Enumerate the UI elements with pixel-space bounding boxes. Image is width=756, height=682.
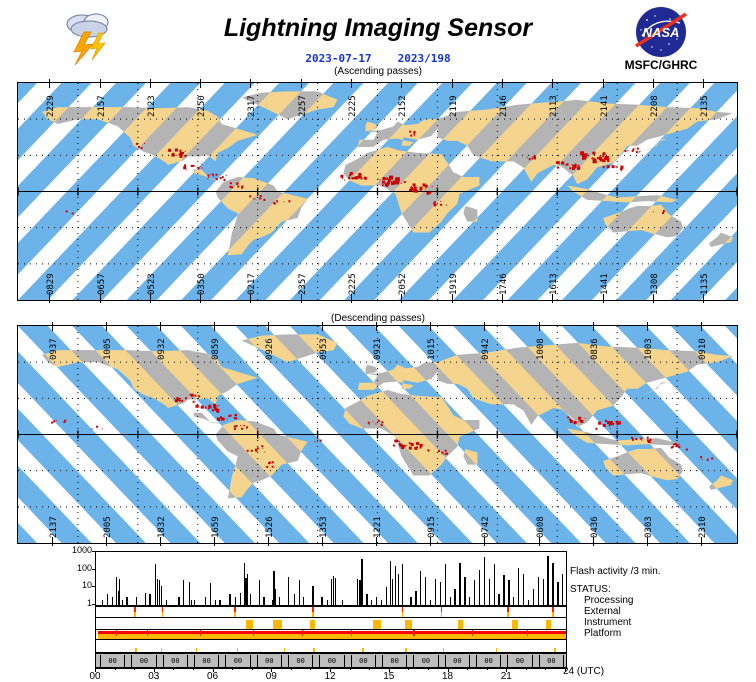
ascending-pass-caption: (Ascending passes) <box>178 66 578 77</box>
flash-activity-bar <box>294 594 295 605</box>
map-orbit-time-label: 2135 <box>700 95 710 117</box>
map-tick-mark <box>301 294 302 303</box>
flash-activity-bar <box>122 600 123 605</box>
x-axis-minor-tick <box>487 667 488 670</box>
map-orbit-time-label: 2225 <box>348 95 358 117</box>
flash-activity-bar <box>410 597 411 605</box>
status-tick-platform <box>161 648 162 652</box>
flash-activity-bar <box>533 589 534 605</box>
map-ascending-passes[interactable] <box>17 82 738 301</box>
map-orbit-time-label: 2157 <box>97 95 107 117</box>
map-tick-mark <box>200 294 201 303</box>
page-header: Lightning Imaging Sensor 2023-07-172023/… <box>0 0 756 78</box>
x-axis-minor-tick <box>369 667 370 670</box>
map-orbit-time-label: 0926 <box>265 338 275 360</box>
utc-axis-label: 24 (UTC) <box>563 666 604 677</box>
map-tick-mark <box>653 294 654 303</box>
orbit-box[interactable]: 00 <box>194 655 219 667</box>
map-tick-mark <box>322 322 323 331</box>
flash-activity-bar <box>136 597 137 605</box>
map-tick-mark <box>250 79 251 88</box>
flash-activity-bar <box>543 579 544 605</box>
flash-activity-bar <box>445 564 446 605</box>
flash-activity-bar <box>513 597 514 605</box>
map-orbit-time-label: 0932 <box>157 338 167 360</box>
legend-status-external: External <box>570 606 756 617</box>
map-tick-mark <box>452 294 453 303</box>
orbit-box[interactable]: 00 <box>163 655 188 667</box>
x-axis-minor-tick <box>545 667 546 670</box>
orbit-box[interactable]: 00 <box>100 655 125 667</box>
map-tick-mark <box>351 294 352 303</box>
flash-activity-bar <box>335 578 336 605</box>
flash-activity-bar <box>303 597 304 605</box>
map-geometry <box>18 83 737 300</box>
status-tick-instrument <box>302 630 303 636</box>
flash-activity-bar <box>498 594 499 605</box>
status-tick-platform <box>362 648 363 652</box>
map-orbit-time-label: 0303 <box>644 516 654 538</box>
svg-text:NASA: NASA <box>643 25 680 40</box>
status-tick-instrument <box>200 630 201 636</box>
flash-activity-bar <box>342 600 343 605</box>
flash-activity-bar <box>459 563 460 605</box>
x-axis-minor-tick <box>252 667 253 670</box>
map-tick-mark <box>301 79 302 88</box>
map-tick-mark <box>502 294 503 303</box>
observation-date: 2023-07-17 <box>305 52 371 65</box>
map-orbit-time-label: 0910 <box>698 338 708 360</box>
flash-activity-bar <box>247 574 248 605</box>
map-orbit-time-label: 0350 <box>197 273 207 295</box>
date-bar: 2023-07-172023/198 <box>178 52 578 65</box>
map-tick-mark <box>484 537 485 546</box>
map-tick-mark <box>430 322 431 331</box>
x-axis-tick-label: 21 <box>501 671 512 682</box>
flash-activity-bar <box>562 574 563 605</box>
map-ascending-canvas <box>18 83 737 300</box>
map-tick-mark <box>268 537 269 546</box>
x-axis-tick-label: 09 <box>266 671 277 682</box>
map-tick-mark <box>701 322 702 331</box>
thunderstorm-cloud-icon <box>58 8 120 66</box>
flash-activity-bar <box>259 580 260 605</box>
map-orbit-time-label: 1221 <box>373 516 383 538</box>
map-orbit-time-label: 0217 <box>247 273 257 295</box>
status-tick-instrument <box>351 630 352 636</box>
x-axis-minor-tick <box>193 667 194 670</box>
status-tick-instrument <box>147 630 148 636</box>
map-tick-mark <box>701 537 702 546</box>
flash-activity-plot[interactable] <box>95 551 567 606</box>
map-tick-mark <box>452 79 453 88</box>
x-axis-tick-label: 03 <box>148 671 159 682</box>
x-axis-tick-label: 12 <box>324 671 335 682</box>
map-tick-mark <box>703 294 704 303</box>
status-tick-platform <box>196 648 197 652</box>
map-orbit-time-label: 0829 <box>46 273 56 295</box>
flash-activity-bar <box>126 597 127 605</box>
map-orbit-time-label: 1441 <box>600 273 610 295</box>
flash-activity-bar <box>191 600 192 605</box>
map-tick-mark <box>214 322 215 331</box>
flash-activity-bar <box>557 582 558 605</box>
map-orbit-time-label: 0742 <box>481 516 491 538</box>
flash-activity-bar <box>312 586 313 605</box>
flash-activity-bar <box>145 593 146 605</box>
flash-activity-bar <box>435 579 436 605</box>
map-orbit-time-label: 1308 <box>650 273 660 295</box>
x-axis-minor-tick <box>134 667 135 670</box>
flash-activity-bar <box>523 574 524 605</box>
map-orbit-time-label: 2257 <box>298 95 308 117</box>
map-tick-mark <box>593 322 594 331</box>
map-tick-mark <box>150 294 151 303</box>
legend-activity-label: Flash activity /3 min. <box>570 566 756 577</box>
legend-status-processing: Processing <box>570 595 756 606</box>
flash-activity-bar <box>547 556 548 605</box>
orbit-box[interactable]: 00 <box>225 655 250 667</box>
flash-activity-bar <box>479 570 480 605</box>
flash-activity-bar <box>440 582 441 605</box>
map-tick-mark <box>376 537 377 546</box>
flash-activity-bar <box>219 600 220 605</box>
x-axis-minor-tick <box>173 667 174 670</box>
flash-activity-bar <box>386 587 387 605</box>
map-tick-mark <box>100 79 101 88</box>
flash-activity-bar <box>402 564 403 605</box>
map-tick-mark <box>593 537 594 546</box>
day-of-year: 2023/198 <box>398 52 451 65</box>
flash-activity-bar <box>376 597 377 605</box>
flash-activity-bar <box>183 580 184 605</box>
map-tick-mark <box>653 79 654 88</box>
map-orbit-time-label: 2141 <box>600 95 610 117</box>
map-orbit-time-label: 1008 <box>536 338 546 360</box>
chart-y-tick-label: 1 <box>58 598 92 608</box>
map-tick-mark <box>376 322 377 331</box>
map-orbit-time-label: 1353 <box>319 516 329 538</box>
orbit-box[interactable]: 00 <box>131 655 156 667</box>
map-tick-mark <box>150 79 151 88</box>
flash-activity-bar <box>474 580 475 605</box>
map-tick-mark <box>100 294 101 303</box>
map-orbit-time-label: 2229 <box>46 95 56 117</box>
x-axis-minor-tick <box>310 667 311 670</box>
flash-activity-bar <box>279 597 280 605</box>
status-tick-platform <box>313 648 314 652</box>
flash-activity-bar <box>210 583 211 605</box>
flash-activity-bar <box>361 559 362 605</box>
map-orbit-time-label: 2146 <box>499 95 509 117</box>
x-axis-minor-tick <box>467 667 468 670</box>
x-axis-tick-label: 15 <box>383 671 394 682</box>
map-orbit-time-label: 2113 <box>549 95 559 117</box>
map-tick-mark <box>603 294 604 303</box>
map-tick-mark <box>250 294 251 303</box>
flash-activity-bar <box>263 597 264 605</box>
x-axis-minor-tick <box>232 667 233 670</box>
flash-activity-bar <box>321 597 322 605</box>
flash-activity-bar <box>119 579 120 605</box>
flash-activity-bar <box>235 597 236 605</box>
map-tick-mark <box>647 537 648 546</box>
flash-activity-bar <box>518 568 519 605</box>
map-tick-mark <box>401 79 402 88</box>
chart-x-axis: 000306091215182124 <box>95 667 565 680</box>
flash-activity-bar <box>240 593 241 605</box>
orbit-box[interactable]: 00 <box>507 655 532 667</box>
map-tick-mark <box>552 294 553 303</box>
map-orbit-time-label: 2317 <box>247 95 257 117</box>
status-tick-platform <box>405 648 406 652</box>
map-tick-mark <box>539 322 540 331</box>
map-orbit-time-label: 2225 <box>348 273 358 295</box>
orbit-box[interactable]: 00 <box>476 655 501 667</box>
orbit-box[interactable]: 00 <box>413 655 438 667</box>
chart-y-tick-label: 1000 <box>58 545 92 555</box>
orbit-box[interactable]: 00 <box>445 655 470 667</box>
flash-activity-bar <box>288 577 289 605</box>
flash-activity-bar <box>178 597 179 605</box>
map-orbit-time-label: 1135 <box>700 273 710 295</box>
x-axis-minor-tick <box>428 667 429 670</box>
flash-activity-bar <box>430 600 431 605</box>
flash-activity-bar <box>415 591 416 605</box>
flash-activity-bar <box>102 600 103 605</box>
agency-label: MSFC/GHRC <box>600 58 722 72</box>
map-orbit-time-label: 0953 <box>319 338 329 360</box>
flash-activity-bar <box>489 579 490 605</box>
flash-activity-bar <box>299 580 300 605</box>
map-tick-mark <box>351 79 352 88</box>
orbit-box[interactable]: 00 <box>382 655 407 667</box>
map-orbit-time-label: 1832 <box>157 516 167 538</box>
orbit-box[interactable]: 00 <box>319 655 344 667</box>
flash-activity-bar <box>250 594 251 605</box>
map-tick-mark <box>552 79 553 88</box>
map-orbit-time-label: 2310 <box>698 516 708 538</box>
descending-pass-caption: (Descending passes) <box>178 313 578 324</box>
flash-activity-bar <box>205 597 206 605</box>
flash-activity-bar <box>425 577 426 605</box>
flash-activity-bar <box>503 575 504 605</box>
map-tick-mark <box>322 537 323 546</box>
flash-activity-bar <box>450 597 451 605</box>
status-tick-platform <box>443 648 444 652</box>
flash-activity-bar <box>392 579 393 605</box>
map-tick-mark <box>49 79 50 88</box>
map-tick-mark <box>703 79 704 88</box>
map-tick-mark <box>268 322 269 331</box>
map-tick-mark <box>106 537 107 546</box>
map-orbit-time-label: 0436 <box>590 516 600 538</box>
map-tick-mark <box>539 537 540 546</box>
flash-activity-bar <box>107 594 108 605</box>
map-orbit-time-label: 1003 <box>644 338 654 360</box>
flash-activity-bar <box>381 600 382 605</box>
chart-y-tick-label: 10 <box>58 580 92 590</box>
map-tick-mark <box>603 79 604 88</box>
page-title: Lightning Imaging Sensor <box>178 14 578 43</box>
flash-activity-bar <box>149 594 150 605</box>
status-tick-instrument <box>253 630 254 636</box>
map-orbit-time-label: 2052 <box>398 273 408 295</box>
flash-activity-bar <box>398 574 399 605</box>
status-tick-instrument <box>116 630 117 636</box>
flash-activity-bar <box>112 597 113 605</box>
flash-activity-bar <box>552 563 553 605</box>
flash-activity-bar <box>215 600 216 605</box>
flash-activity-bar <box>469 597 470 605</box>
map-tick-mark <box>200 79 201 88</box>
status-tick-instrument <box>413 630 414 636</box>
map-orbit-time-label: 0657 <box>97 273 107 295</box>
map-orbit-time-label: 1746 <box>499 273 509 295</box>
map-orbit-time-label: 1613 <box>549 273 559 295</box>
flash-activity-bar <box>161 586 162 605</box>
legend-status-header: STATUS: <box>570 584 756 595</box>
status-tick-platform <box>554 648 555 652</box>
flash-activity-bar <box>494 564 495 605</box>
flash-activity-bar <box>194 600 195 605</box>
x-axis-tick-label: 06 <box>207 671 218 682</box>
map-orbit-time-label: 2119 <box>449 95 459 117</box>
map-tick-mark <box>52 537 53 546</box>
x-axis-minor-tick <box>408 667 409 670</box>
map-tick-mark <box>502 79 503 88</box>
flash-activity-bar <box>275 589 276 605</box>
map-orbit-time-label: 2123 <box>147 95 157 117</box>
map-orbit-time-label: 0608 <box>536 516 546 538</box>
x-axis-tick-label: 00 <box>89 671 100 682</box>
flash-activity-bar <box>420 571 421 606</box>
flash-activity-bar <box>166 600 167 605</box>
flash-activity-bar <box>327 600 328 605</box>
flash-activity-bar <box>366 594 367 605</box>
legend-status-platform: Platform <box>570 628 756 639</box>
orbit-box[interactable]: 00 <box>288 655 313 667</box>
map-orbit-time-label: 1659 <box>211 516 221 538</box>
map-orbit-time-label: 0915 <box>427 516 437 538</box>
flash-activity-bar <box>371 600 372 605</box>
status-tick-platform <box>496 648 497 652</box>
map-tick-mark <box>484 322 485 331</box>
map-tick-mark <box>106 322 107 331</box>
x-axis-minor-tick <box>291 667 292 670</box>
map-orbit-time-label: 0859 <box>211 338 221 360</box>
status-tick-platform <box>284 648 285 652</box>
map-orbit-time-label: 0836 <box>590 338 600 360</box>
nasa-meatball-logo: NASA <box>625 6 697 58</box>
flash-activity-bars <box>96 552 566 605</box>
x-axis-minor-tick <box>526 667 527 670</box>
map-tick-mark <box>214 537 215 546</box>
status-tick-instrument <box>527 630 528 636</box>
status-row-platform <box>95 639 567 653</box>
map-orbit-time-label: 1005 <box>103 338 113 360</box>
map-orbit-time-label: 1015 <box>427 338 437 360</box>
map-tick-mark <box>160 322 161 331</box>
map-orbit-time-label: 2357 <box>298 273 308 295</box>
map-orbit-time-label: 1919 <box>449 273 459 295</box>
map-tick-mark <box>160 537 161 546</box>
map-tick-mark <box>49 294 50 303</box>
map-tick-mark <box>430 537 431 546</box>
chart-y-tick-label: 100 <box>58 563 92 573</box>
flash-activity-bar <box>229 594 230 605</box>
x-axis-minor-tick <box>350 667 351 670</box>
legend-status-instrument: Instrument <box>570 617 756 628</box>
flash-activity-bar <box>508 580 509 605</box>
x-axis-minor-tick <box>115 667 116 670</box>
map-orbit-time-label: 2152 <box>398 95 408 117</box>
chart-legend: Flash activity /3 min. STATUS: Processin… <box>570 566 756 639</box>
flash-activity-bar <box>357 579 358 605</box>
x-axis-tick-label: 18 <box>442 671 453 682</box>
map-orbit-time-label: 2250 <box>197 95 207 117</box>
flash-activity-bar <box>484 557 485 605</box>
orbit-box[interactable]: 00 <box>351 655 376 667</box>
map-orbit-time-label: 0937 <box>49 338 59 360</box>
status-tick-instrument <box>472 630 473 636</box>
map-orbit-time-label: 2208 <box>650 95 660 117</box>
map-orbit-time-label: 0523 <box>147 273 157 295</box>
status-tick-platform <box>135 648 136 652</box>
map-tick-mark <box>52 322 53 331</box>
orbit-box[interactable]: 00 <box>539 655 564 667</box>
flash-activity-bar <box>528 600 529 605</box>
flash-activity-bar <box>538 577 539 605</box>
status-tick-platform <box>237 648 238 652</box>
status-line-instrument-red <box>98 631 566 634</box>
map-tick-mark <box>401 294 402 303</box>
map-orbit-time-label: 0921 <box>373 338 383 360</box>
map-orbit-time-label: 2137 <box>49 516 59 538</box>
map-orbit-time-label: 1526 <box>265 516 275 538</box>
flash-activity-bar <box>464 577 465 605</box>
map-tick-mark <box>647 322 648 331</box>
orbit-box[interactable]: 00 <box>257 655 282 667</box>
map-orbit-time-label: 0942 <box>481 338 491 360</box>
flash-activity-bar <box>395 566 396 605</box>
flash-activity-bar <box>454 589 455 605</box>
map-orbit-time-label: 2005 <box>103 516 113 538</box>
